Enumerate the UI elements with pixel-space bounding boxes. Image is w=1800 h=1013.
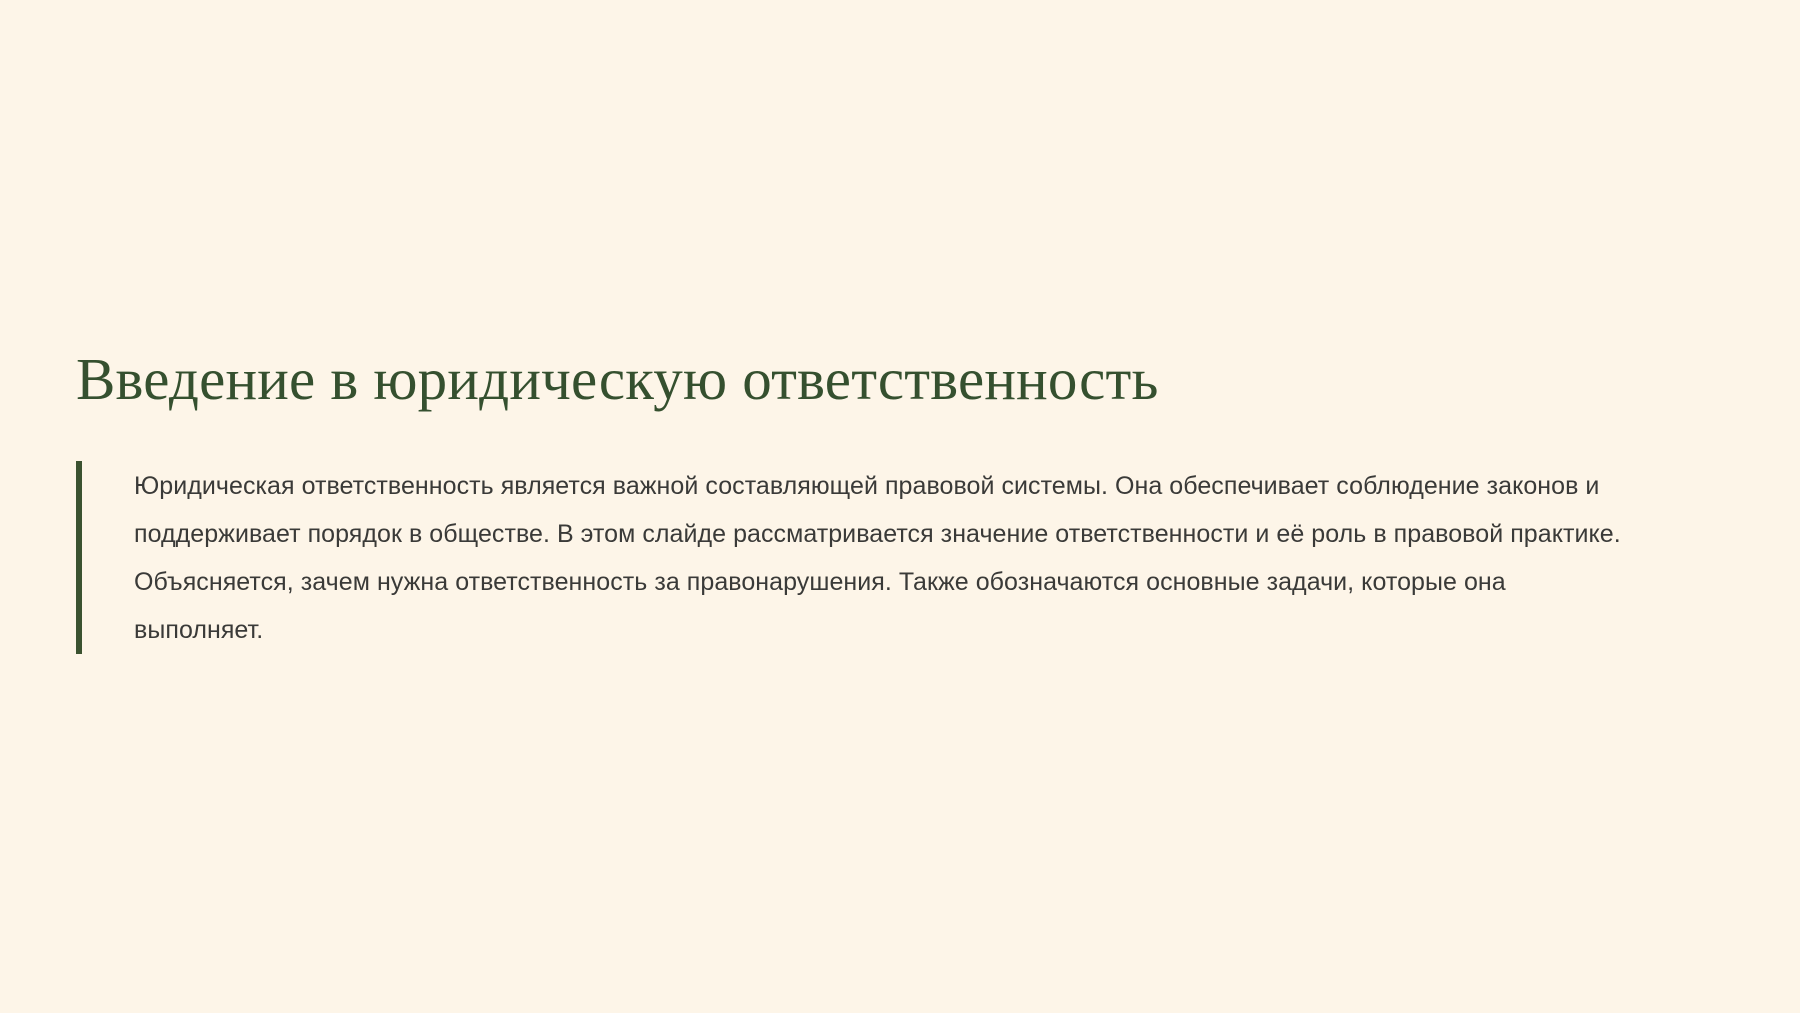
- slide-content: Введение в юридическую ответственность Ю…: [76, 345, 1636, 654]
- body-block: Юридическая ответственность является важ…: [76, 461, 1636, 654]
- page-title: Введение в юридическую ответственность: [76, 345, 1636, 413]
- body-paragraph: Юридическая ответственность является важ…: [82, 461, 1634, 654]
- slide-canvas: Введение в юридическую ответственность Ю…: [0, 0, 1800, 1013]
